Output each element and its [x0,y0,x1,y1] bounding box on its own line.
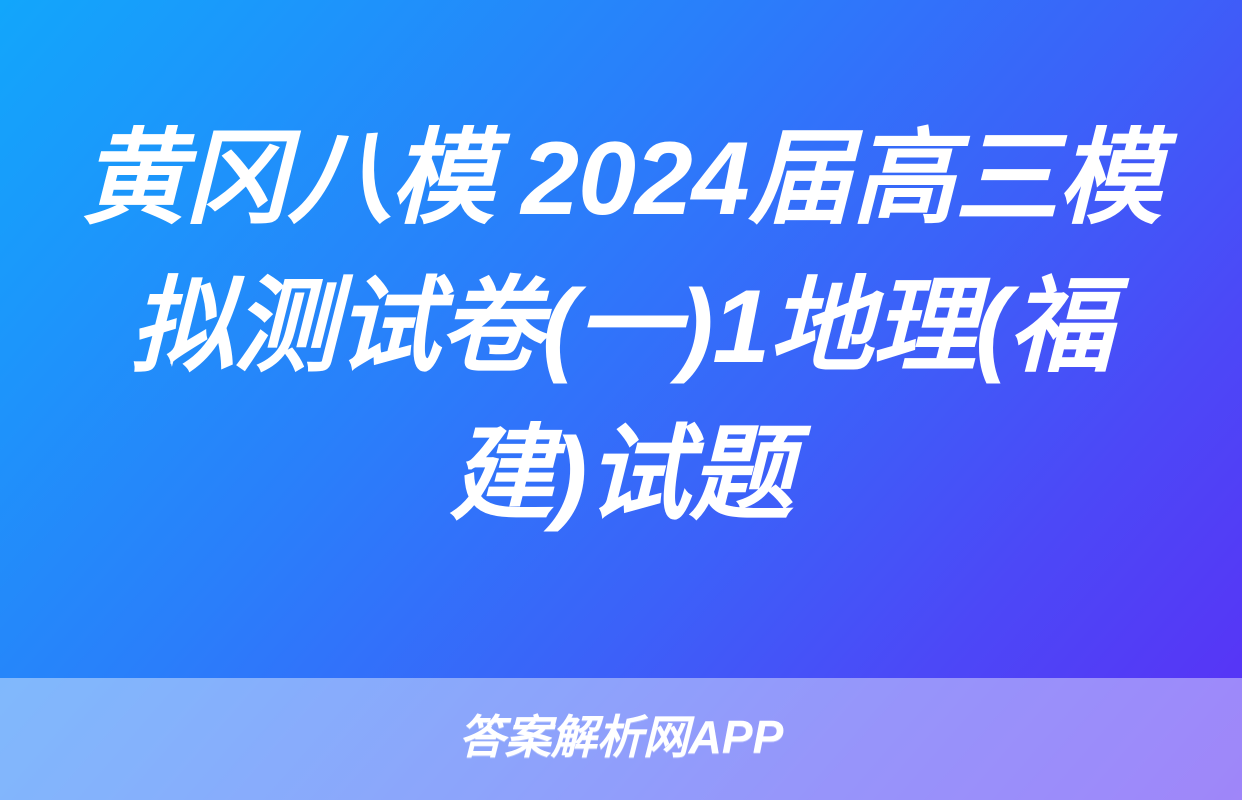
watermark-text: 答案解析网APP [459,711,784,763]
watermark-band: 答案解析网APP [0,678,1242,800]
share-card: 黄冈八模 2024届高三模拟测试卷(一)1地理(福建)试题 答案解析网APP [0,0,1242,800]
page-title: 黄冈八模 2024届高三模拟测试卷(一)1地理(福建)试题 [66,105,1176,549]
title-block: 黄冈八模 2024届高三模拟测试卷(一)1地理(福建)试题 [0,0,1242,678]
